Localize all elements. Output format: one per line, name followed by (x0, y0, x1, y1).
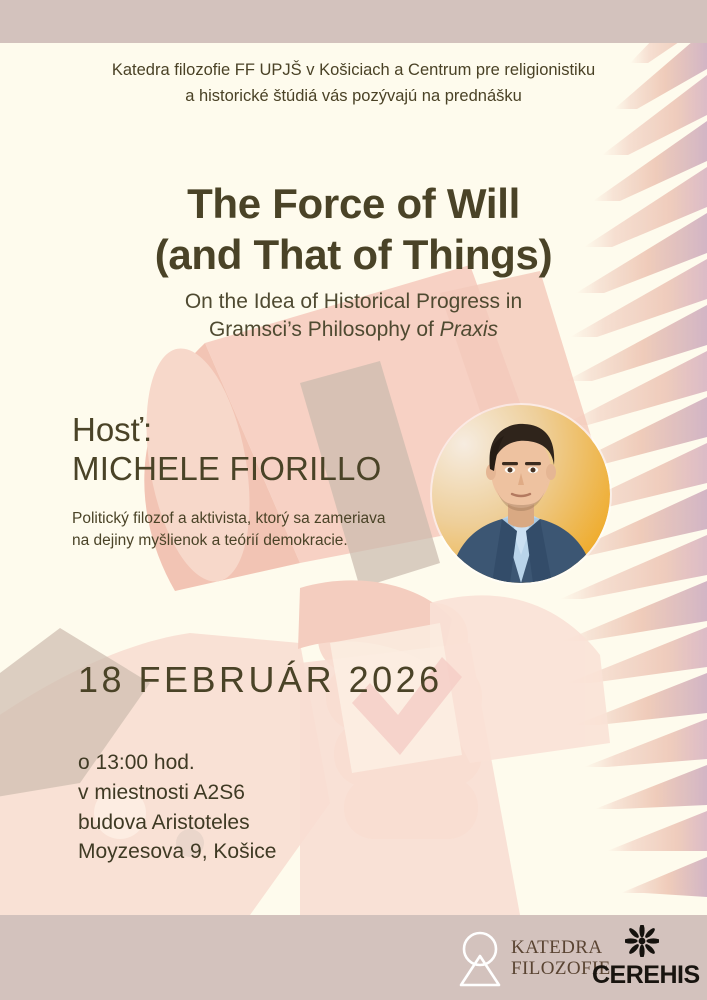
footer-logos: KATEDRA FILOZOFIE (0, 915, 707, 1000)
title-line-1: The Force of Will (0, 178, 707, 229)
logo-katedra-filozofie: KATEDRA FILOZOFIE (452, 929, 611, 987)
subtitle-line-2: Gramsci’s Philosophy of Praxis (0, 316, 707, 344)
subtitle-italic-word: Praxis (440, 318, 498, 341)
logo-cerehis: CEREHIS (592, 925, 692, 990)
organizer-header: Katedra filozofie FF UPJŠ v Košiciach a … (0, 58, 707, 109)
eight-point-star-icon (592, 925, 692, 962)
subtitle-line-2-text: Gramsci’s Philosophy of (209, 318, 440, 341)
host-bio-line-2: na dejiny myšlienok a teórií demokracie. (72, 530, 442, 552)
circle-triangle-logo-icon (452, 929, 508, 987)
poster-content: Katedra filozofie FF UPJŠ v Košiciach a … (0, 0, 707, 1000)
lecture-subtitle: On the Idea of Historical Progress in Gr… (0, 288, 707, 343)
host-label: Hosť: (72, 413, 152, 446)
host-name: MICHELE FIORILLO (72, 452, 381, 485)
speaker-portrait (432, 405, 610, 583)
poster: Katedra filozofie FF UPJŠ v Košiciach a … (0, 0, 707, 1000)
event-building: budova Aristoteles (78, 808, 276, 838)
title-line-2: (and That of Things) (0, 229, 707, 280)
host-bio: Politický filozof a aktivista, ktorý sa … (72, 508, 442, 553)
host-bio-line-1: Politický filozof a aktivista, ktorý sa … (72, 508, 442, 530)
event-address: Moyzesova 9, Košice (78, 837, 276, 867)
organizer-line-2: a historické štúdiá vás pozývajú na pred… (0, 84, 707, 110)
event-date: 18 FEBRUÁR 2026 (78, 662, 443, 698)
event-venue: o 13:00 hod. v miestnosti A2S6 budova Ar… (78, 748, 276, 867)
event-time: o 13:00 hod. (78, 748, 276, 778)
subtitle-line-1: On the Idea of Historical Progress in (0, 288, 707, 316)
logo-cerehis-text: CEREHIS (592, 961, 692, 990)
event-room: v miestnosti A2S6 (78, 778, 276, 808)
organizer-line-1: Katedra filozofie FF UPJŠ v Košiciach a … (0, 58, 707, 84)
lecture-title: The Force of Will (and That of Things) (0, 178, 707, 280)
